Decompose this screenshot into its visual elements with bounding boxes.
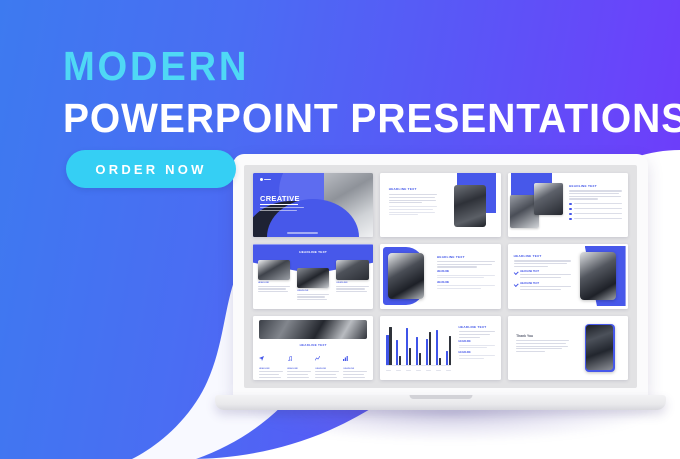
bullet-dot-icon — [569, 208, 572, 211]
send-icon — [259, 356, 264, 361]
headline-block: MODERN POWERPOINT PRESENTATIONS — [63, 45, 663, 140]
column-caption: HEADLINE — [315, 368, 339, 370]
chart-plot-area — [386, 323, 451, 365]
laptop-trackpad-notch — [409, 395, 472, 399]
chart-bar — [416, 337, 418, 365]
chart-bar — [449, 336, 451, 365]
slide-thumbnail-thank-you[interactable]: Thank You — [508, 316, 628, 380]
order-now-button[interactable]: ORDER NOW — [66, 150, 236, 188]
headline-top: MODERN — [63, 45, 621, 87]
headline-main: POWERPOINT PRESENTATIONS — [63, 96, 633, 140]
slide8-headline: HEADLINE TEXT — [459, 325, 495, 329]
slide3-photo-2 — [534, 183, 563, 215]
slide7-column: HEADLINE — [343, 350, 367, 379]
chart-bar — [399, 356, 401, 365]
bullet-item — [569, 213, 622, 216]
bullet-item — [569, 218, 622, 221]
promo-banner: MODERN POWERPOINT PRESENTATIONS ORDER NO… — [0, 0, 680, 459]
slide-thumbnail-checklist[interactable]: HEADLINE TEXT HEADLINE TEXT — [508, 244, 628, 308]
slide5-sub-headline: HEADLINE — [437, 281, 495, 284]
chart-bar — [389, 327, 391, 365]
slide4-card: HEADLINE — [297, 268, 329, 301]
chart-bar — [386, 335, 388, 365]
slide8-text-block: HEADLINE TEXT HEADLINE HEADLINE — [459, 325, 495, 361]
laptop-lid: CREATIVE HEADLINE TEXT — [233, 154, 648, 397]
cover-rule — [260, 204, 298, 205]
music-icon — [287, 356, 292, 361]
chart-bar-group — [396, 323, 401, 365]
slide4-card: HEADLINE — [258, 260, 290, 301]
chart-bar-group — [406, 323, 411, 365]
slide9-headline: Thank You — [516, 334, 569, 338]
slide-thumbnail-photo-left[interactable]: HEADLINE TEXT HEADLINE HEADLINE — [380, 244, 500, 308]
chart-bar — [409, 348, 411, 365]
slide-thumbnail-headline-photo[interactable]: HEADLINE TEXT — [380, 173, 500, 237]
chart-bar-group — [436, 323, 441, 365]
check-icon — [514, 282, 518, 286]
slide-thumbnail-banner-icons[interactable]: HEADLINE TEXT HEADLINE HEADLINE — [253, 316, 373, 380]
column-caption: HEADLINE — [259, 368, 283, 370]
logo-wordmark — [264, 179, 271, 180]
bars-icon — [343, 356, 348, 361]
laptop-screen: CREATIVE HEADLINE TEXT — [244, 165, 637, 388]
chart-tick — [406, 370, 411, 371]
slide7-column: HEADLINE — [259, 350, 283, 379]
slide7-headline: HEADLINE TEXT — [253, 343, 373, 347]
slide4-headline: HEADLINE TEXT — [253, 250, 373, 254]
bar-chart — [386, 323, 451, 371]
card-photo — [336, 260, 368, 280]
slide6-headline: HEADLINE TEXT — [514, 254, 572, 258]
slide5-headline: HEADLINE TEXT — [437, 255, 495, 259]
chart-bar — [429, 332, 431, 365]
chart-bar-group — [386, 323, 391, 365]
checklist-label: HEADLINE TEXT — [520, 282, 571, 285]
bullet-dot-icon — [569, 203, 572, 206]
slide9-phone-frame — [585, 324, 615, 372]
bullet-item — [569, 208, 622, 211]
slide5-photo — [388, 253, 424, 299]
bullet-item — [569, 203, 622, 206]
bullet-dot-icon — [569, 218, 572, 221]
slide5-sub-headline: HEADLINE — [437, 270, 495, 273]
checklist-item: HEADLINE TEXT — [514, 270, 572, 279]
slide2-body-lines — [389, 194, 437, 215]
card-photo — [258, 260, 290, 280]
chart-bar — [436, 330, 438, 365]
slide-thumbnail-three-cards[interactable]: HEADLINE TEXT HEADLINE HEADLINE — [253, 244, 373, 308]
chart-tick — [426, 370, 431, 371]
chart-tick — [436, 370, 441, 371]
slide3-body-lines — [569, 190, 622, 199]
chart-tick-labels — [386, 370, 451, 371]
card-photo — [297, 268, 329, 288]
chart-bar — [446, 351, 448, 365]
chart-bar-group — [416, 323, 421, 365]
slide9-text-block: Thank You — [516, 334, 569, 354]
checklist-item: HEADLINE TEXT — [514, 282, 572, 291]
slide-thumbnail-photos-bullets[interactable]: HEADLINE TEXT — [508, 173, 628, 237]
slide4-card: HEADLINE — [336, 260, 368, 301]
slide5-text-block: HEADLINE TEXT HEADLINE HEADLINE — [437, 255, 495, 291]
chart-bar-group — [426, 323, 431, 365]
chart-tick — [416, 370, 421, 371]
chart-bar — [439, 358, 441, 365]
cover-logo — [260, 178, 271, 181]
slide-thumbnail-cover[interactable]: CREATIVE — [253, 173, 373, 237]
slide7-column: HEADLINE — [287, 350, 311, 379]
slide9-phone-photo — [586, 325, 613, 370]
slide7-icon-columns: HEADLINE HEADLINE HEADLINE — [259, 350, 367, 379]
slide2-text-block: HEADLINE TEXT — [389, 187, 437, 217]
slide7-column: HEADLINE — [315, 350, 339, 379]
laptop-mockup: CREATIVE HEADLINE TEXT — [233, 154, 648, 419]
chart-tick — [396, 370, 401, 371]
order-now-label: ORDER NOW — [95, 162, 206, 177]
chart-tick — [446, 370, 451, 371]
cover-subtitle-lines — [260, 207, 304, 212]
chart-bar — [396, 340, 398, 365]
chart-axis — [386, 365, 451, 366]
column-caption: HEADLINE — [287, 368, 311, 370]
logo-mark-icon — [260, 178, 263, 181]
slide-thumbnail-bar-chart[interactable]: HEADLINE TEXT HEADLINE HEADLINE — [380, 316, 500, 380]
slide7-banner-photo — [259, 320, 367, 339]
slide3-headline: HEADLINE TEXT — [569, 184, 622, 188]
slide2-headline: HEADLINE TEXT — [389, 187, 437, 191]
slide6-text-block: HEADLINE TEXT HEADLINE TEXT — [514, 254, 572, 292]
slide6-photo — [580, 252, 616, 300]
slide3-text-block: HEADLINE TEXT — [569, 184, 622, 223]
column-caption: HEADLINE — [343, 368, 367, 370]
slide4-card-row: HEADLINE HEADLINE HEADLINE — [258, 260, 369, 301]
chart-bar — [426, 339, 428, 365]
slide2-photo — [454, 185, 486, 227]
card-caption: HEADLINE — [336, 282, 368, 284]
slide3-bullet-list — [569, 203, 622, 221]
chart-tick — [386, 370, 391, 371]
card-caption: HEADLINE — [258, 282, 290, 284]
chart-bar-group — [446, 323, 451, 365]
bullet-dot-icon — [569, 213, 572, 216]
chart-bar — [406, 328, 408, 365]
chart-bar — [419, 353, 421, 365]
check-icon — [514, 270, 518, 274]
slide8-sub-headline: HEADLINE — [459, 351, 495, 354]
cover-title: CREATIVE — [260, 194, 300, 203]
chart-icon — [315, 356, 320, 361]
card-caption: HEADLINE — [297, 290, 329, 292]
slide8-sub-headline: HEADLINE — [459, 340, 495, 343]
checklist-label: HEADLINE TEXT — [520, 270, 571, 273]
